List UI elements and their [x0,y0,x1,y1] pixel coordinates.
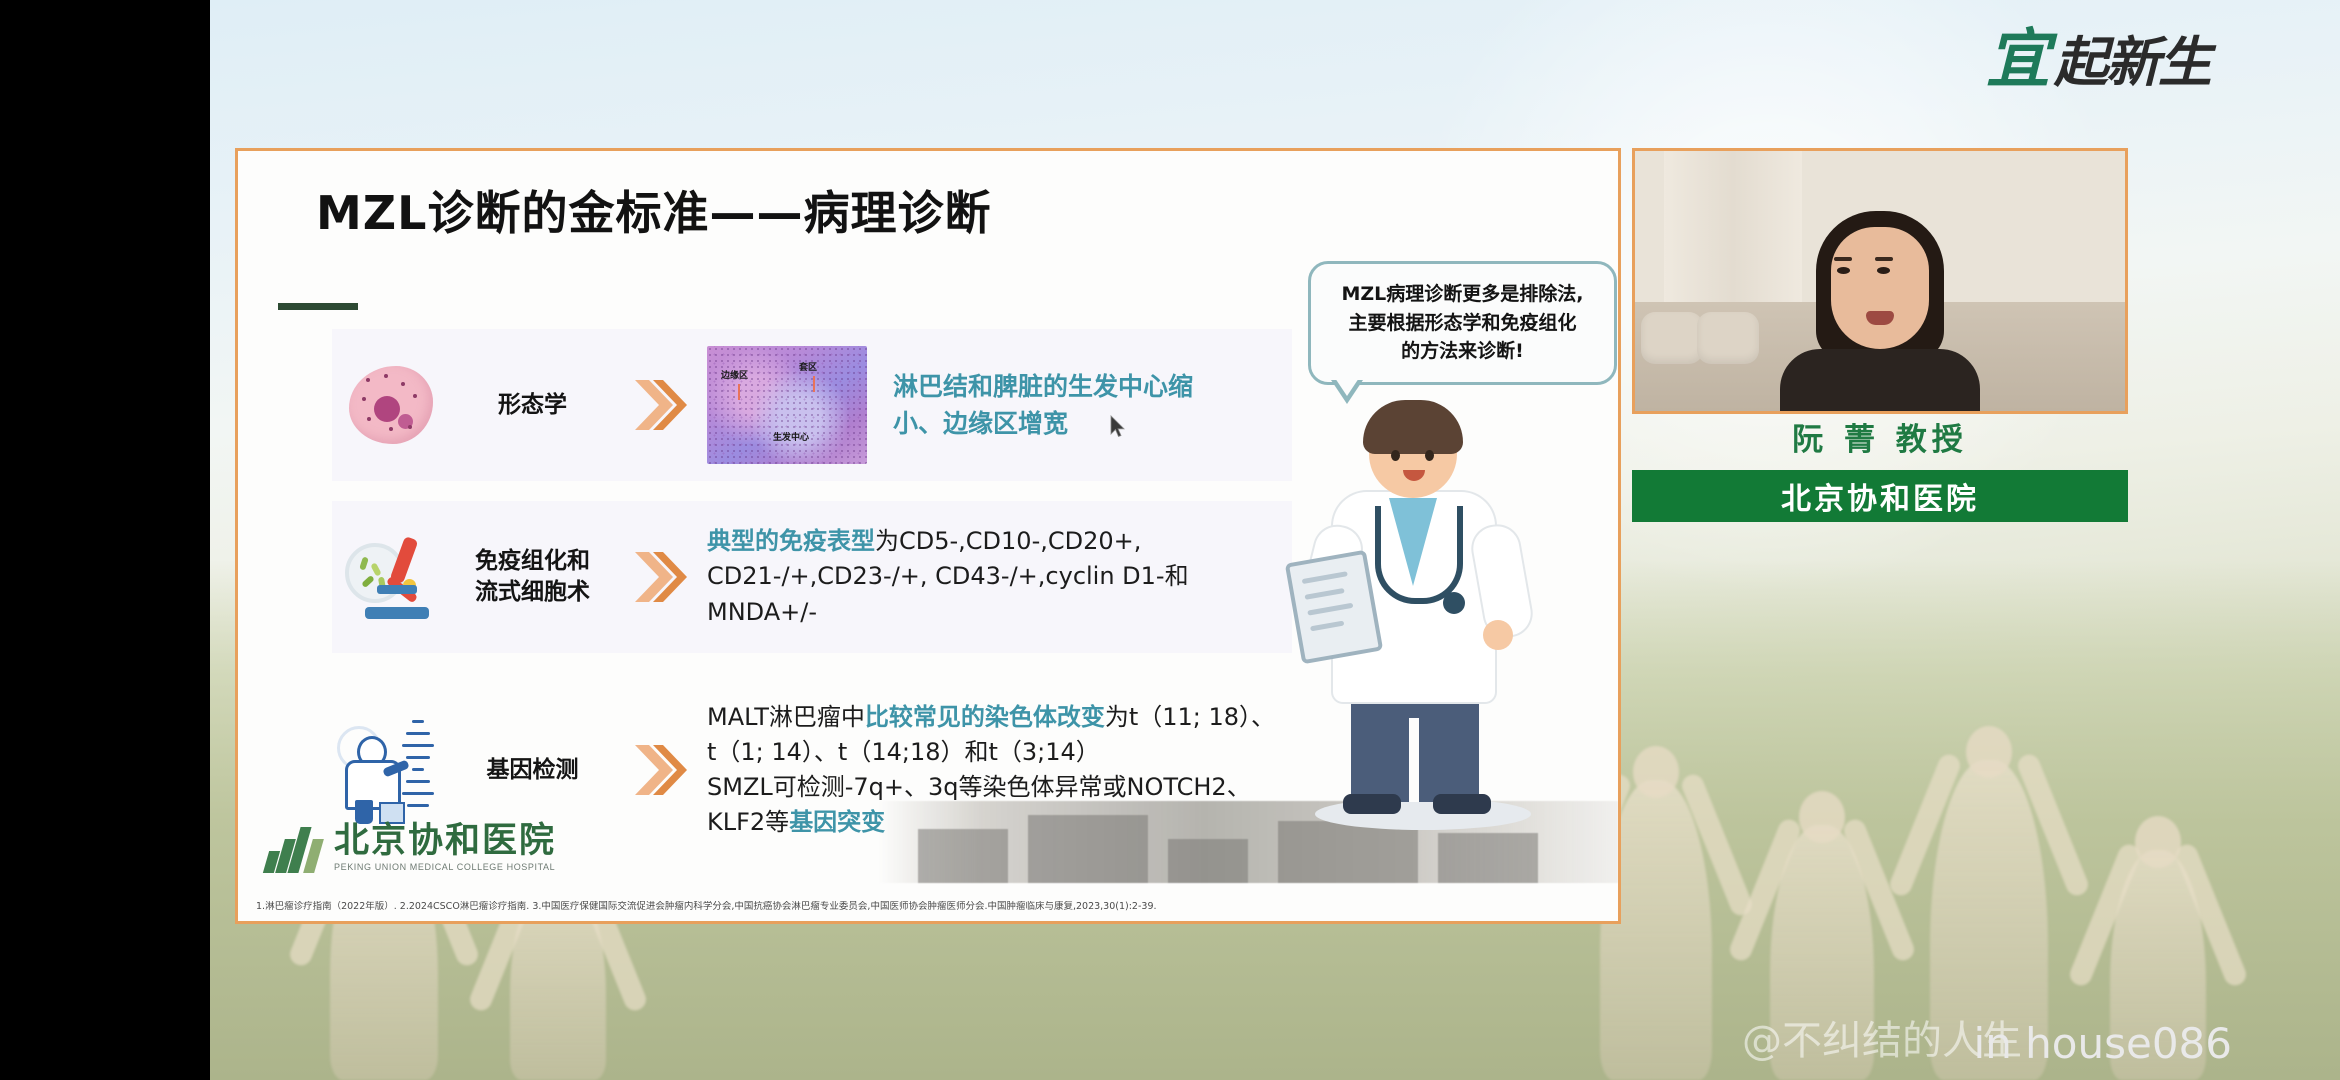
row-label-gene-test: 基因检测 [450,755,615,786]
presentation-slide[interactable]: MZL诊断的金标准——病理诊断 [235,148,1621,924]
gene-line2: t（1; 14）、t（14;18）和t（3;14） [707,735,1280,770]
hospital-logo-cn: 北京协和医院 [334,823,556,858]
ihc-highlight: 典型的免疫表型 [707,527,875,555]
chevron-right-icon [633,741,689,799]
callout-line-1: MZL病理诊断更多是排除法, [1325,280,1600,309]
dna-gene-test-icon [332,716,450,824]
arrow-icon [615,376,707,434]
brand-logo: 宜 起新生 [1986,8,2210,100]
doctor-illustration [1293,406,1553,836]
speaker-name: 阮 菁 教授 [1632,414,2128,459]
speaker-avatar [1775,211,1985,411]
page-title: MZL诊断的金标准——病理诊断 [316,177,991,243]
content-row-immunohistochemistry: 免疫组化和 流式细胞术 典型的免疫表型为CD5-,CD10-,CD20+, CD… [332,501,1292,653]
brand-logo-char-primary: 宜 [1986,8,2048,100]
letterbox-left [0,0,210,1080]
histology-label-germinal-center: 生发中心 [773,430,809,443]
hospital-logo-mark [264,821,328,873]
cell-morphology-icon [332,366,450,444]
arrow-icon [615,741,707,799]
mouse-cursor-icon [1110,415,1126,439]
hospital-logo-en: PEKING UNION MEDICAL COLLEGE HOSPITAL [334,862,556,872]
watermark-house: in house086 [1974,1019,2232,1068]
histology-label-marginal-zone: 边缘区 [721,368,748,381]
hospital-logo: 北京协和医院 PEKING UNION MEDICAL COLLEGE HOSP… [264,821,556,873]
row-label-ihc-line1: 免疫组化和 [450,546,615,577]
histology-label-mantle-zone: 套区 [799,360,817,373]
gene-line4-highlight: 基因突变 [789,808,885,836]
callout-tail [1331,380,1363,404]
histology-thumbnail: 边缘区 套区 生发中心 [707,346,867,464]
title-underline-rule [278,303,358,310]
speaker-video-feed[interactable] [1632,148,2128,414]
screen: 宜 起新生 MZL诊断的金标准——病理诊断 [0,0,2340,1080]
brand-logo-text: 起新生 [2054,18,2210,97]
chevron-right-icon [633,548,689,606]
gene-line1-highlight: 比较常见的染色体改变 [865,703,1105,731]
row-label-ihc: 免疫组化和 流式细胞术 [450,546,615,608]
gene-line3: SMZL可检测-7q+、3q等染色体异常或NOTCH2、 [707,770,1280,805]
row-label-ihc-line2: 流式细胞术 [450,577,615,608]
row-body-ihc: 典型的免疫表型为CD5-,CD10-,CD20+, CD21-/+,CD23-/… [707,524,1267,629]
references-footnote: 1.淋巴瘤诊疗指南（2022年版）. 2.2024CSCO淋巴瘤诊疗指南. 3.… [256,901,1608,913]
gene-line1-post: 为t（11; 18）、 [1105,703,1275,731]
callout-bubble: MZL病理诊断更多是排除法, 主要根据形态学和免疫组化 的方法来诊断! [1308,261,1617,385]
row-label-morphology: 形态学 [450,390,615,421]
row-body-morphology: 淋巴结和脾脏的生发中心缩小、边缘区增宽 [893,368,1193,443]
clipboard-icon [1285,550,1383,665]
gene-line4-pre: KLF2等 [707,808,789,836]
chevron-right-icon [633,376,689,434]
speaker-organization: 北京协和医院 [1632,470,2128,522]
callout-line-3: 的方法来诊断! [1325,337,1600,366]
content-row-morphology: 形态学 边缘区 套区 生发中心 淋巴结和脾脏的生发中心缩小、边缘区增宽 [332,329,1292,481]
gene-line1-pre: MALT淋巴瘤中 [707,703,865,731]
arrow-icon [615,548,707,606]
microscope-icon [332,533,450,621]
callout-line-2: 主要根据形态学和免疫组化 [1325,309,1600,338]
